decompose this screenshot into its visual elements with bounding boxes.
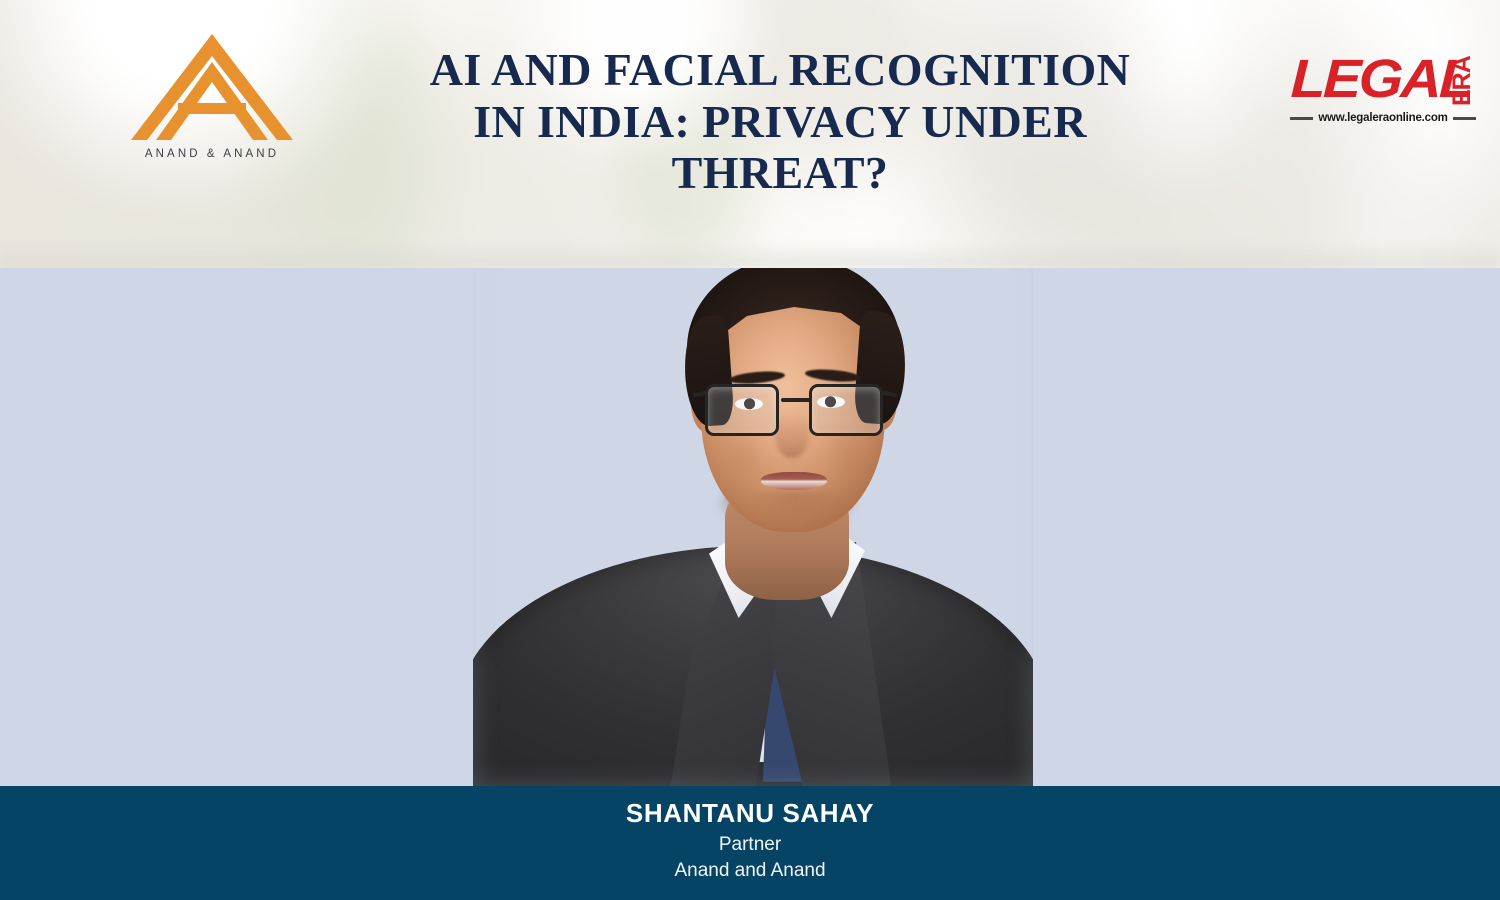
portrait-composition [473, 268, 1033, 786]
anand-and-anand-logo-text: ANAND & ANAND [122, 148, 302, 160]
article-banner-poster: ANAND & ANAND AI AND FACIAL RECOGNITION … [0, 0, 1500, 900]
article-title-line-3: THREAT? [672, 147, 889, 198]
legal-era-rule-left [1290, 117, 1313, 120]
legal-era-wordmark-group: LEGAL ERA [1290, 54, 1476, 109]
article-title: AI AND FACIAL RECOGNITION IN INDIA: PRIV… [300, 44, 1260, 199]
eyeglasses-bridge [781, 398, 811, 402]
legal-era-wordmark: LEGAL [1290, 50, 1473, 108]
header-bar: ANAND & ANAND AI AND FACIAL RECOGNITION … [0, 0, 1500, 268]
legal-era-logo[interactable]: LEGAL ERA www.legaleraonline.com [1290, 54, 1476, 132]
legal-era-website-url: www.legaleraonline.com [1318, 112, 1447, 124]
anand-and-anand-logo[interactable]: ANAND & ANAND [122, 28, 302, 176]
speaker-role: Partner [0, 833, 1500, 858]
mouth [761, 472, 827, 490]
article-title-line-1: AI AND FACIAL RECOGNITION [430, 44, 1131, 95]
article-title-line-2: IN INDIA: PRIVACY UNDER [473, 96, 1087, 147]
speaker-organization: Anand and Anand [0, 859, 1500, 884]
anand-triangle-mark-icon [122, 28, 302, 144]
header-bottom-shade [0, 242, 1500, 268]
legal-era-rule-right [1453, 117, 1476, 120]
portrait-stage [0, 268, 1500, 786]
legal-era-suffix: ERA [1448, 52, 1476, 110]
legal-era-url-row: www.legaleraonline.com [1290, 110, 1476, 126]
chin-shadow [745, 492, 845, 522]
eyeglasses-icon [701, 380, 889, 442]
speaker-name: SHANTANU SAHAY [0, 798, 1500, 829]
eyeglasses-lens-left [705, 384, 779, 436]
eyeglasses-lens-right [809, 384, 883, 436]
speaker-portrait-photo [473, 268, 1033, 786]
speaker-credit-banner: SHANTANU SAHAY Partner Anand and Anand [0, 786, 1500, 900]
